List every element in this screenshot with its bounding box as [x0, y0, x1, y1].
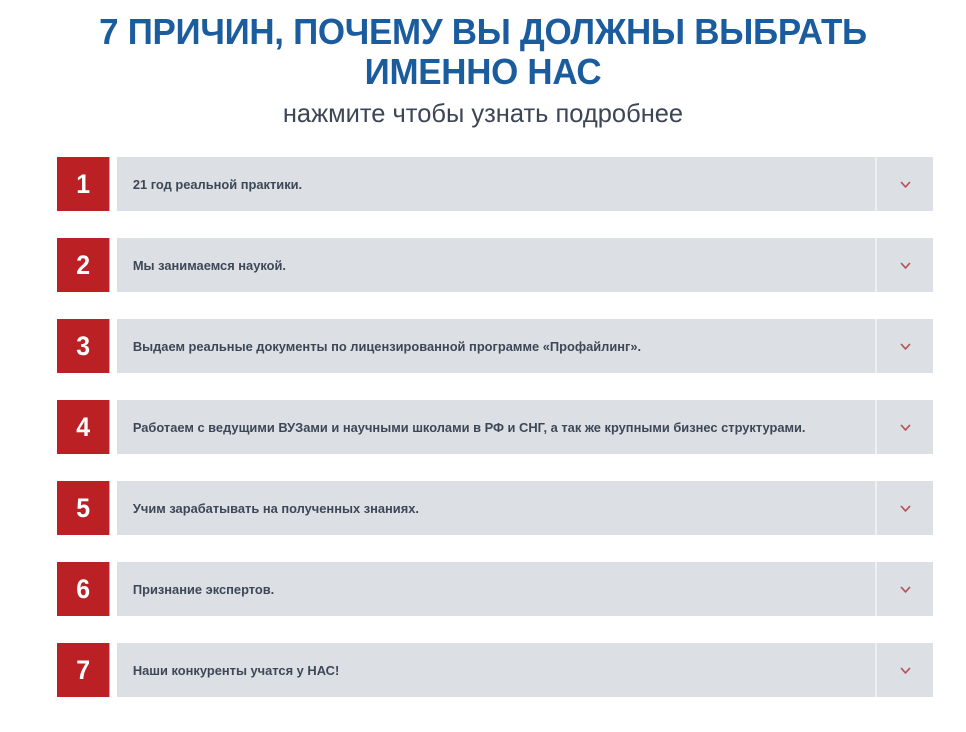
- accordion-title: Наши конкуренты учатся у НАС!: [117, 662, 867, 679]
- chevron-down-icon: [899, 259, 912, 272]
- number-badge: 6: [57, 562, 109, 616]
- accordion-title: 21 год реальной практики.: [117, 176, 867, 193]
- accordion-item[interactable]: 5 Учим зарабатывать на полученных знания…: [57, 481, 933, 535]
- number-badge-wrap: 6: [57, 562, 114, 616]
- accordion-item[interactable]: 4 Работаем с ведущими ВУЗами и научными …: [57, 400, 933, 454]
- accordion-item[interactable]: 3 Выдаем реальные документы по лицензиро…: [57, 319, 933, 373]
- chevron-down-icon: [899, 583, 912, 596]
- number-badge-wrap: 1: [57, 157, 114, 211]
- page-title: 7 ПРИЧИН, ПОЧЕМУ ВЫ ДОЛЖНЫ ВЫБРАТЬ ИМЕНН…: [14, 12, 951, 92]
- number-badge-wrap: 2: [57, 238, 114, 292]
- number-badge: 7: [57, 643, 109, 697]
- accordion-header[interactable]: 21 год реальной практики.: [117, 157, 933, 211]
- accordion-title: Работаем с ведущими ВУЗами и научными шк…: [117, 419, 867, 436]
- accordion-header[interactable]: Наши конкуренты учатся у НАС!: [117, 643, 933, 697]
- accordion-toggle-button[interactable]: [875, 562, 933, 616]
- number-badge-wrap: 3: [57, 319, 114, 373]
- accordion-toggle-button[interactable]: [875, 400, 933, 454]
- number-badge-wrap: 4: [57, 400, 114, 454]
- accordion-toggle-button[interactable]: [875, 319, 933, 373]
- number-badge: 3: [57, 319, 109, 373]
- page-title-line-1: 7 ПРИЧИН, ПОЧЕМУ ВЫ ДОЛЖНЫ ВЫБРАТЬ: [22, 12, 944, 52]
- page-subtitle: нажмите чтобы узнать подробнее: [10, 98, 957, 128]
- chevron-down-icon: [899, 421, 912, 434]
- page-title-line-2: ИМЕННО НАС: [22, 52, 944, 92]
- number-badge: 4: [57, 400, 109, 454]
- accordion-toggle-button[interactable]: [875, 238, 933, 292]
- accordion-title: Выдаем реальные документы по лицензирова…: [117, 338, 867, 355]
- accordion-item[interactable]: 1 21 год реальной практики.: [57, 157, 933, 211]
- accordion-toggle-button[interactable]: [875, 157, 933, 211]
- accordion-title: Мы занимаемся наукой.: [117, 257, 867, 274]
- chevron-down-icon: [899, 340, 912, 353]
- accordion-item[interactable]: 6 Признание экспертов.: [57, 562, 933, 616]
- number-badge-wrap: 5: [57, 481, 114, 535]
- heading-block: 7 ПРИЧИН, ПОЧЕМУ ВЫ ДОЛЖНЫ ВЫБРАТЬ ИМЕНН…: [0, 0, 966, 128]
- accordion-header[interactable]: Выдаем реальные документы по лицензирова…: [117, 319, 933, 373]
- number-badge: 5: [57, 481, 109, 535]
- number-badge: 1: [57, 157, 109, 211]
- chevron-down-icon: [899, 502, 912, 515]
- accordion-toggle-button[interactable]: [875, 481, 933, 535]
- accordion-item[interactable]: 2 Мы занимаемся наукой.: [57, 238, 933, 292]
- chevron-down-icon: [899, 664, 912, 677]
- accordion-title: Признание экспертов.: [117, 581, 867, 598]
- accordion-header[interactable]: Мы занимаемся наукой.: [117, 238, 933, 292]
- accordion-title: Учим зарабатывать на полученных знаниях.: [117, 500, 867, 517]
- accordion-header[interactable]: Учим зарабатывать на полученных знаниях.: [117, 481, 933, 535]
- number-badge: 2: [57, 238, 109, 292]
- accordion-toggle-button[interactable]: [875, 643, 933, 697]
- accordion-header[interactable]: Работаем с ведущими ВУЗами и научными шк…: [117, 400, 933, 454]
- chevron-down-icon: [899, 178, 912, 191]
- reasons-accordion: 1 21 год реальной практики. 2 Мы занимае…: [57, 157, 933, 697]
- accordion-item[interactable]: 7 Наши конкуренты учатся у НАС!: [57, 643, 933, 697]
- page-root: 7 ПРИЧИН, ПОЧЕМУ ВЫ ДОЛЖНЫ ВЫБРАТЬ ИМЕНН…: [0, 0, 966, 732]
- number-badge-wrap: 7: [57, 643, 114, 697]
- accordion-header[interactable]: Признание экспертов.: [117, 562, 933, 616]
